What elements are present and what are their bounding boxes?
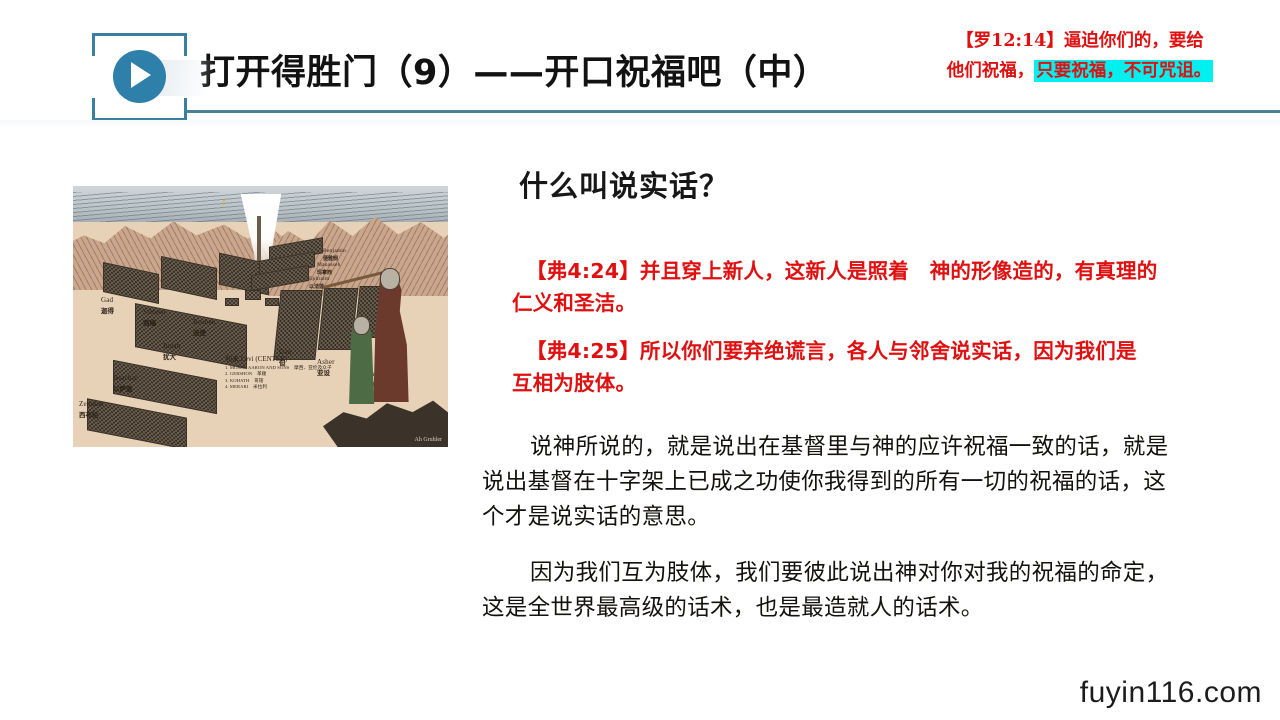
verse-reference: 【弗4:25】 (526, 339, 640, 363)
tribe-label-judah: Judah 犹大 (163, 342, 180, 361)
levi-clan-row: 2. GERSHON 革顺 (225, 371, 332, 377)
tribe-label-manasseh: Manasseh 玛拿西 (317, 262, 341, 276)
verse-romans-line1: 逼迫你们的，要给 (1064, 31, 1204, 51)
levi-cn: 利未 (225, 355, 239, 363)
tribe-en: Reuben (193, 318, 216, 326)
tribe-label-issachar: Issachar 以萨迦 (113, 374, 138, 393)
camp-block (265, 298, 279, 306)
illustration-figure-child-head (353, 316, 370, 335)
verse-romans-line2-plain: 他们祝福， (947, 61, 1035, 81)
tribe-cn: 便雅悯 (323, 255, 346, 262)
tribe-label-benjamin: Benjamin 便雅悯 (323, 248, 346, 262)
illustration-signature: Ah Gruhler (415, 437, 443, 443)
camp-block (225, 298, 239, 306)
question-heading: 什么叫说实话？ (519, 163, 729, 205)
tribe-cn: 迦得 (101, 305, 114, 315)
tribe-en: Issachar (113, 374, 138, 382)
verse-ephesians-4-25: 【弗4:25】所以你们要弃绝谎言，各人与邻舍说实话，因为我们是互相为肢体。 (512, 335, 1152, 399)
tribe-en: Judah (163, 342, 180, 350)
levi-clan-row: 3. KOHATH 哥辖 (225, 378, 332, 384)
site-watermark: fuyin116.com (1080, 676, 1262, 710)
tribe-cn: 玛拿西 (317, 269, 341, 276)
verse-romans-reference: 【罗12:14】 (956, 31, 1064, 51)
verse-romans-highlight: 只要祝福，不可咒诅。 (1034, 60, 1213, 82)
tribe-cn: 西布伦 (79, 409, 104, 419)
tribe-en: Benjamin (323, 248, 346, 254)
body-paragraph-1: 说神所说的，就是说出在基督里与神的应许祝福一致的话，就是说出基督在十字架上已成之… (482, 430, 1172, 535)
levi-clan-block: 利未 Levi (CENTER) 1. MOSES, AARON AND SON… (225, 354, 332, 390)
tribe-en: Manasseh (317, 262, 341, 268)
tribe-label-gad: Gad 迦得 (101, 296, 114, 315)
tribe-label-simeon: Simeon 西缅 (143, 308, 166, 327)
play-triangle-icon (131, 62, 151, 88)
tribe-en: Simeon (143, 308, 166, 316)
levi-sub: (CENTER) (255, 355, 287, 363)
israelite-camp-illustration: Gad 迦得 Simeon 西缅 Reuben 流便 Judah 犹大 Issa… (73, 186, 448, 447)
body-paragraph-2: 因为我们互为肢体，我们要彼此说出神对你对我的祝福的命定，这是全世界最高级的话术，… (482, 556, 1172, 626)
slide-header: 打开得胜门（9）——开口祝福吧（中） 【罗12:14】逼迫你们的，要给 他们祝福… (0, 0, 1280, 130)
levi-heading: 利未 Levi (CENTER) (225, 354, 332, 364)
illustration-figure-elder-head (380, 268, 400, 290)
tribe-label-reuben: Reuben 流便 (193, 318, 216, 337)
slide-root: 打开得胜门（9）——开口祝福吧（中） 【罗12:14】逼迫你们的，要给 他们祝福… (0, 0, 1280, 720)
verse-romans-12-14: 【罗12:14】逼迫你们的，要给 他们祝福，只要祝福，不可咒诅。 (884, 26, 1276, 86)
page-title: 打开得胜门（9）——开口祝福吧（中） (200, 44, 828, 95)
header-divider-glow (0, 120, 1280, 129)
tabernacle-block (245, 290, 261, 300)
tribe-label-zebulon: Zebulon 西布伦 (79, 400, 104, 419)
levi-clan-row: 4. MERARI 米拉利 (225, 384, 332, 390)
tribe-cn: 以萨迦 (113, 383, 138, 393)
logo-shadow (160, 60, 220, 96)
header-divider (186, 110, 1280, 113)
tribe-cn: 犹大 (163, 351, 180, 361)
tribe-en: Ephraim (309, 276, 329, 282)
tribe-cn: 西缅 (143, 317, 166, 327)
tribe-en: Gad (101, 296, 114, 304)
verse-ephesians-4-24: 【弗4:24】并且穿上新人，这新人是照着 神的形像造的，有真理的仁义和圣洁。 (512, 255, 1172, 319)
verse-reference: 【弗4:24】 (526, 259, 640, 283)
tribe-cn: 流便 (193, 327, 216, 337)
tribe-en: Zebulon (79, 400, 104, 408)
levi-en: Levi (241, 355, 254, 363)
levi-clan-row: 1. MOSES, AARON AND SONS 摩西、亚伦及众子 (225, 365, 332, 371)
